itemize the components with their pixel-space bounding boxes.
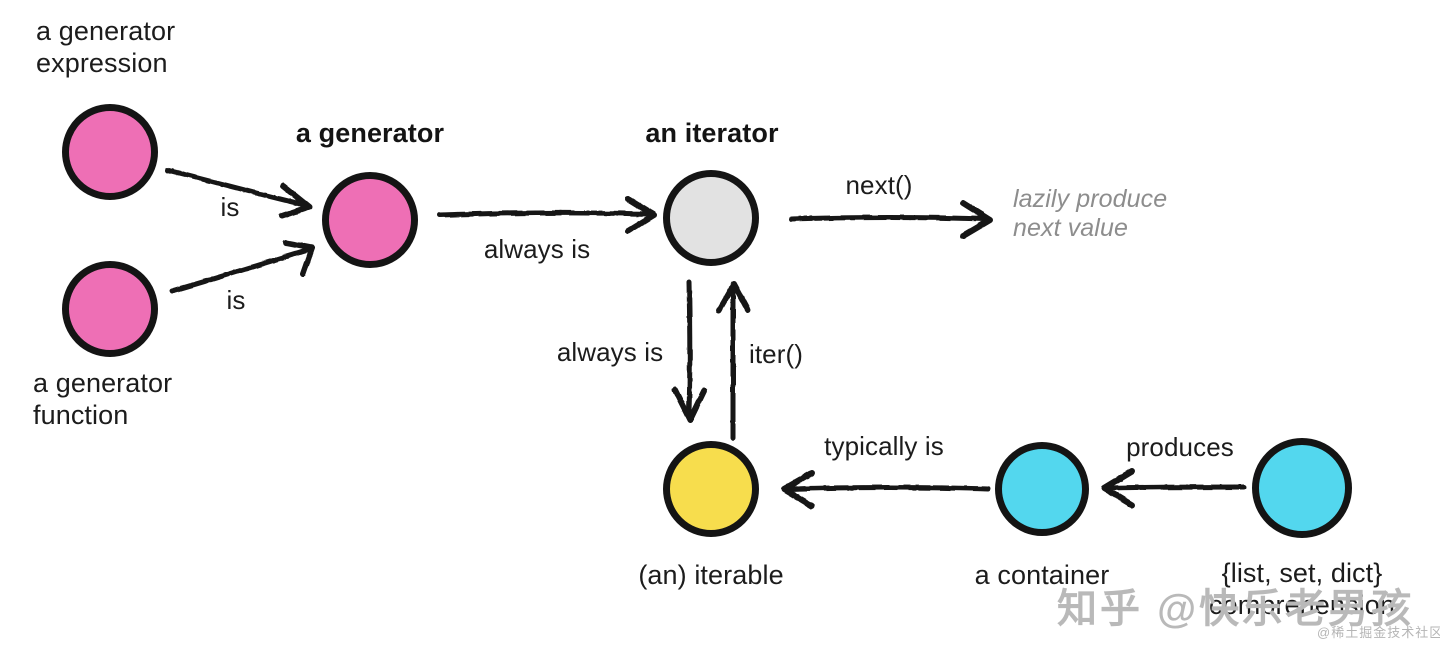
arrow-iterator-next	[791, 203, 990, 236]
node-generator-function[interactable]	[62, 261, 158, 357]
diagram-canvas: a generator expression a generator funct…	[0, 0, 1440, 661]
edge-label-iter: iter()	[749, 339, 803, 369]
note-lazily-produce-next-value: lazily produce next value	[1013, 185, 1167, 244]
edge-label-iterator-to-iterable: always is	[557, 337, 663, 367]
label-generator: a generator	[296, 118, 444, 150]
edge-label-typically-is: typically is	[824, 431, 944, 461]
edge-label-generator-to-iterator: always is	[484, 234, 590, 264]
node-iterable[interactable]	[663, 441, 759, 537]
label-generator-expression: a generator expression	[36, 16, 175, 79]
node-container[interactable]	[995, 442, 1089, 536]
edge-label-genexp-to-generator: is	[221, 192, 240, 222]
watermark-sub: @稀土掘金技术社区	[1317, 622, 1440, 641]
arrow-comprehension-to-container	[1104, 471, 1244, 505]
arrow-container-to-iterable	[784, 473, 988, 506]
arrow-generator-to-iterator	[440, 199, 654, 231]
node-generator[interactable]	[322, 172, 418, 268]
node-iterator[interactable]	[663, 170, 759, 266]
arrow-iterator-to-iterable	[675, 282, 704, 420]
node-comprehension[interactable]	[1252, 438, 1352, 538]
label-iterable: (an) iterable	[638, 560, 783, 592]
edge-label-produces: produces	[1126, 432, 1234, 462]
label-iterator: an iterator	[645, 118, 778, 150]
node-generator-expression[interactable]	[62, 104, 158, 200]
arrow-genfunc-to-generator	[172, 243, 312, 291]
label-generator-function: a generator function	[33, 368, 172, 431]
arrow-iterable-to-iterator	[719, 284, 748, 438]
edge-label-genfunc-to-generator: is	[227, 285, 246, 315]
edge-label-next: next()	[845, 170, 912, 200]
